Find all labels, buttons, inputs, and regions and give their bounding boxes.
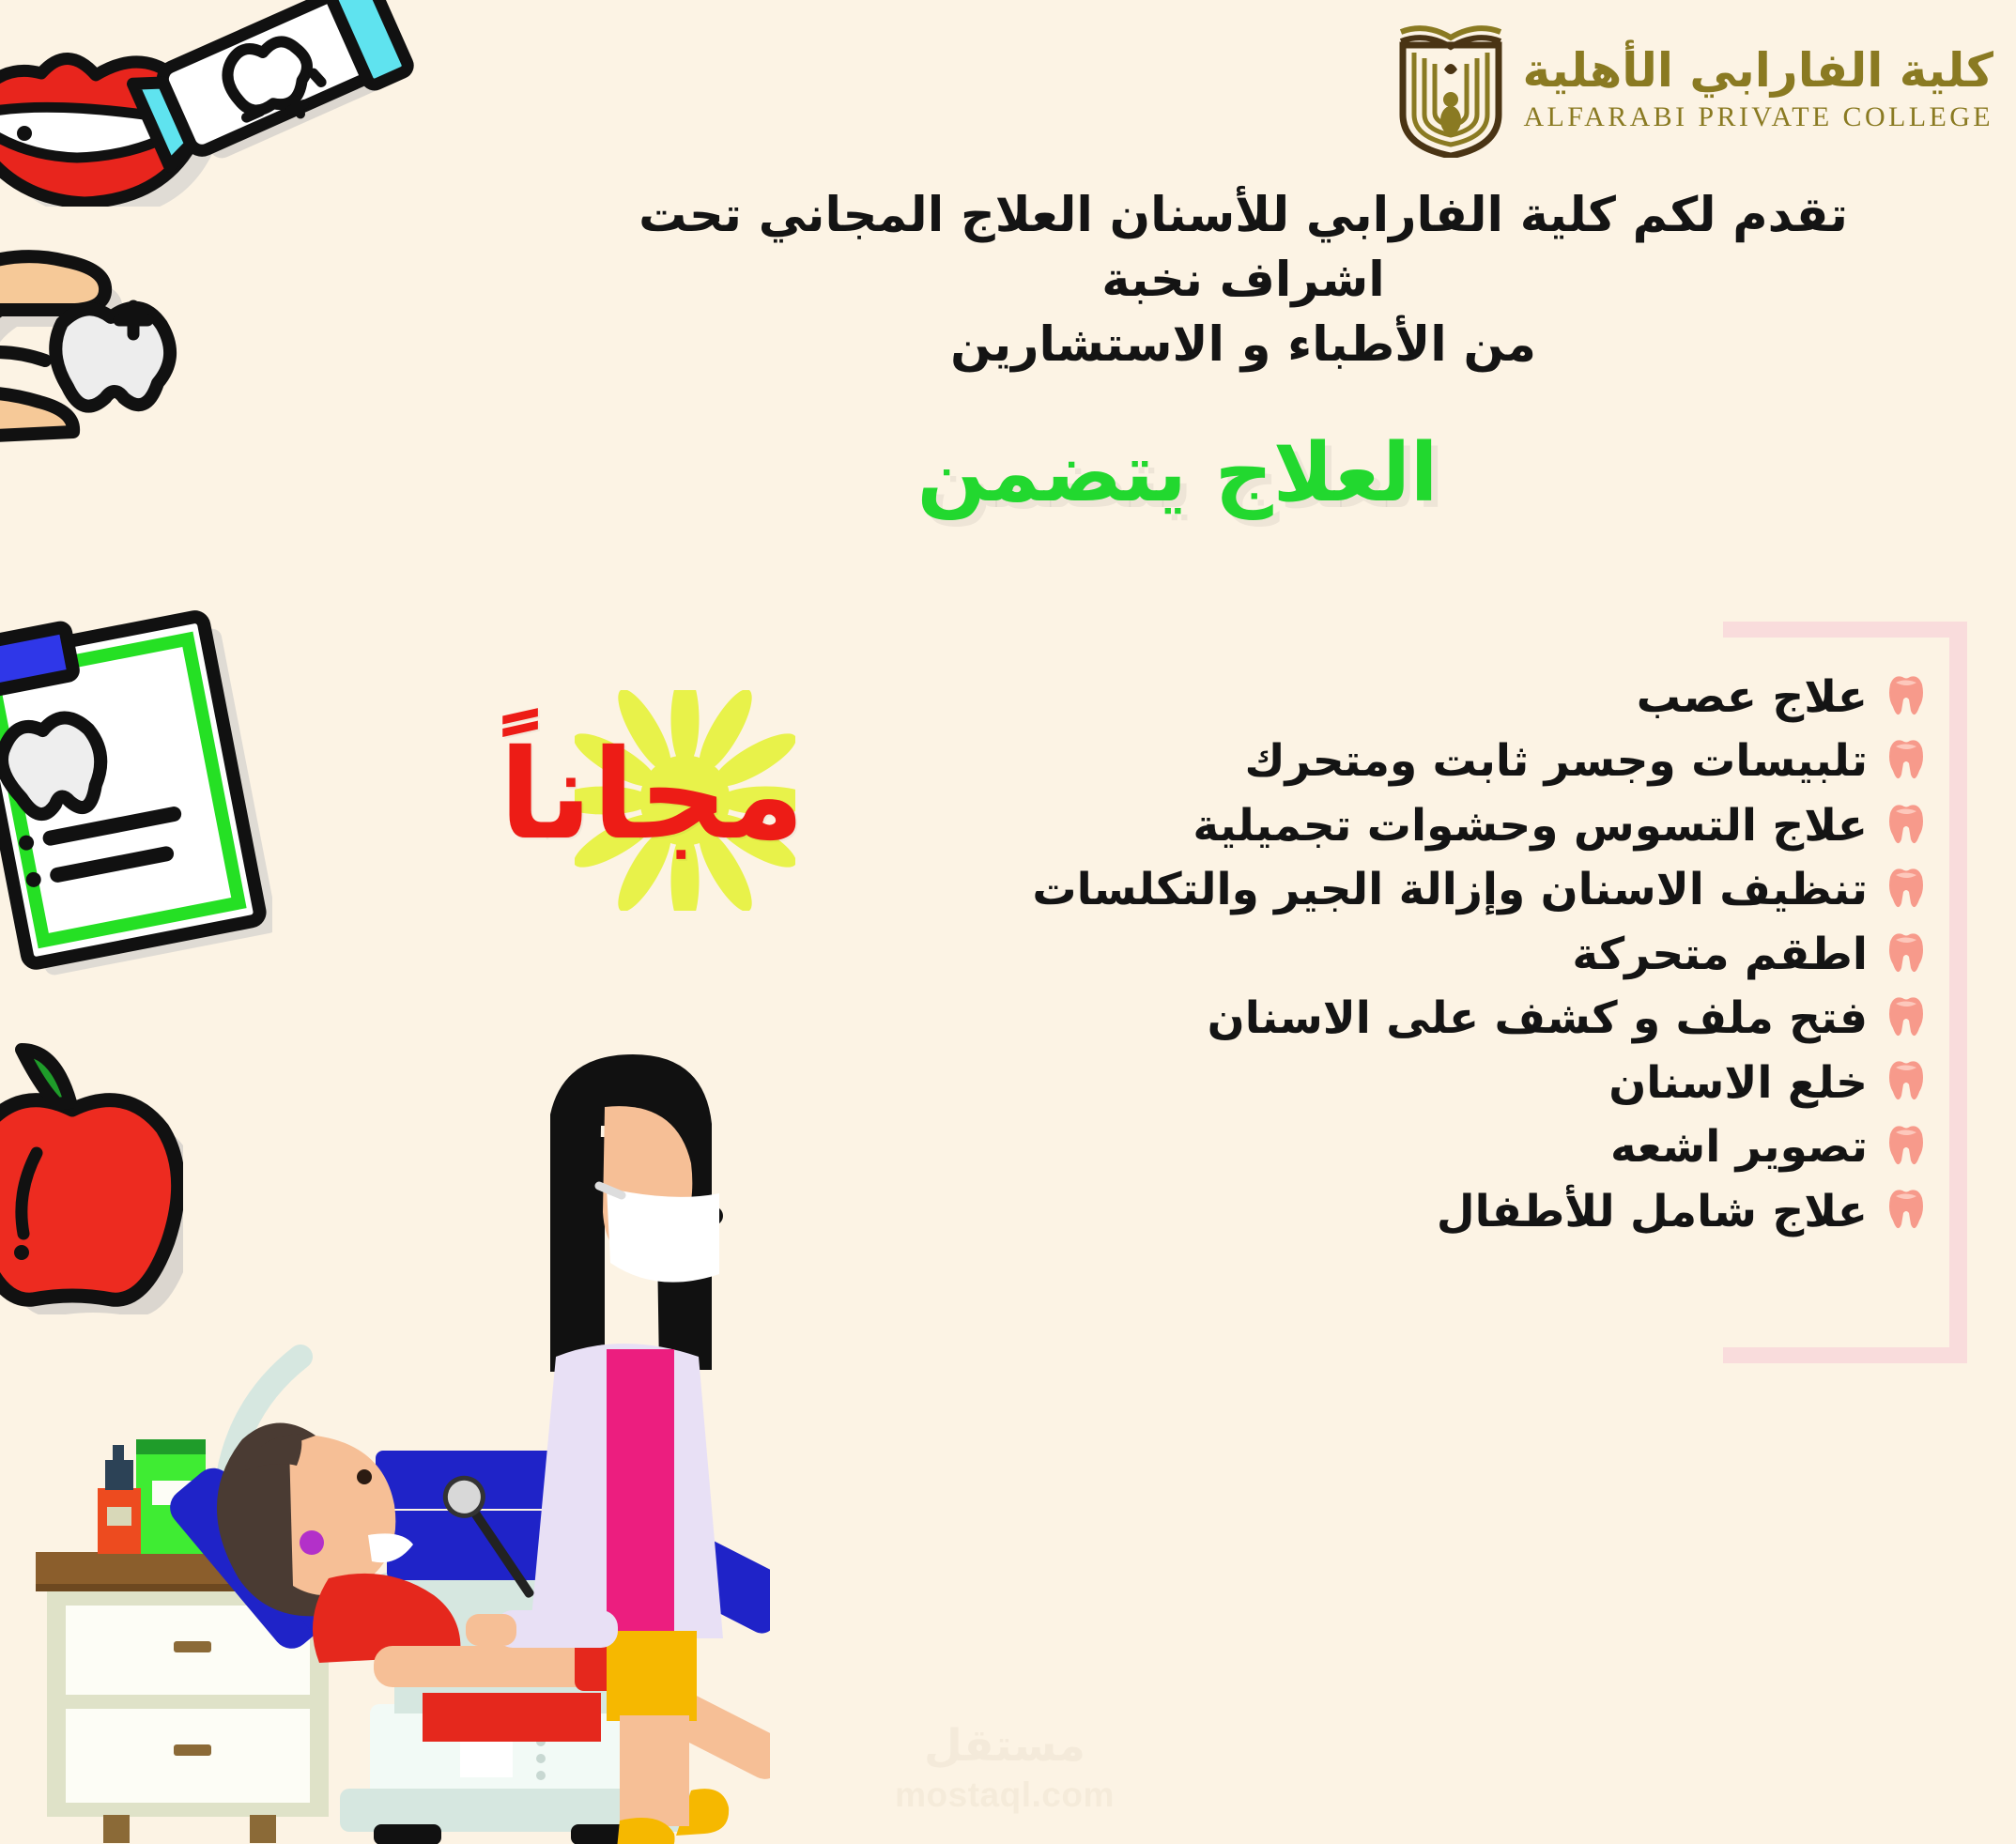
list-item: فتح ملف و كشف على الاسنان — [461, 992, 1926, 1044]
tooth-icon — [1886, 1123, 1926, 1172]
tooth-icon — [1886, 1187, 1926, 1236]
service-label: علاج شامل للأطفال — [1437, 1186, 1868, 1237]
service-label: فتح ملف و كشف على الاسنان — [1208, 992, 1868, 1044]
hand-holding-tooth-icon — [0, 188, 225, 460]
service-label: تنظيف الاسنان وإزالة الجير والتكلسات — [1032, 864, 1868, 915]
toothpaste-tube-icon — [127, 0, 418, 178]
list-item: تصوير اشعه — [461, 1121, 1926, 1173]
tooth-icon — [1886, 737, 1926, 786]
tooth-icon — [1886, 930, 1926, 979]
logo-text-block: كلية الفارابي الأهلية ALFARABI PRIVATE C… — [1523, 47, 1994, 131]
page-title: تقدم لكم كلية الفارابي للأسنان العلاج ال… — [591, 184, 1896, 378]
tooth-icon — [1886, 802, 1926, 851]
poster-canvas: كلية الفارابي الأهلية ALFARABI PRIVATE C… — [0, 0, 2016, 1844]
logo-english-name: ALFARABI PRIVATE COLLEGE — [1523, 103, 1994, 131]
tooth-icon — [1886, 994, 1926, 1043]
service-label: تلبيسات وجسر ثابت ومتحرك — [1244, 735, 1868, 787]
tooth-icon — [1886, 866, 1926, 914]
logo-arabic-name: كلية الفارابي الأهلية — [1523, 47, 1994, 94]
service-label: تصوير اشعه — [1610, 1121, 1868, 1173]
red-apple-icon — [0, 1042, 183, 1314]
headline-line-1: تقدم لكم كلية الفارابي للأسنان العلاج ال… — [591, 184, 1896, 314]
service-label: اطقم متحركة — [1572, 929, 1868, 980]
tooth-icon — [1886, 673, 1926, 722]
section-heading-treatment-includes: العلاج يتضمن — [591, 427, 1764, 520]
service-label: علاج عصب — [1637, 671, 1868, 723]
service-label: خلع الاسنان — [1608, 1057, 1868, 1109]
college-logo: كلية الفارابي الأهلية ALFARABI PRIVATE C… — [1395, 21, 1994, 158]
open-book-shield-emblem-icon — [1395, 21, 1506, 158]
headline-line-2: من الأطباء و الاستشارين — [591, 314, 1896, 378]
list-item: علاج شامل للأطفال — [461, 1186, 1926, 1237]
free-badge: مجاناً — [410, 690, 805, 925]
dental-clipboard-icon — [0, 587, 272, 981]
watermark-domain: mostaql.com — [883, 1775, 1127, 1815]
mostaql-watermark: مستقل mostaql.com — [883, 1724, 1127, 1815]
watermark-arabic: مستقل — [883, 1724, 1127, 1768]
smiling-lips-icon — [0, 0, 244, 207]
list-item: خلع الاسنان — [461, 1057, 1926, 1109]
tooth-icon — [1886, 1058, 1926, 1107]
service-label: علاج التسوس وحشوات تجميلية — [1193, 800, 1868, 852]
free-label: مجاناً — [410, 733, 805, 857]
list-item: اطقم متحركة — [461, 929, 1926, 980]
